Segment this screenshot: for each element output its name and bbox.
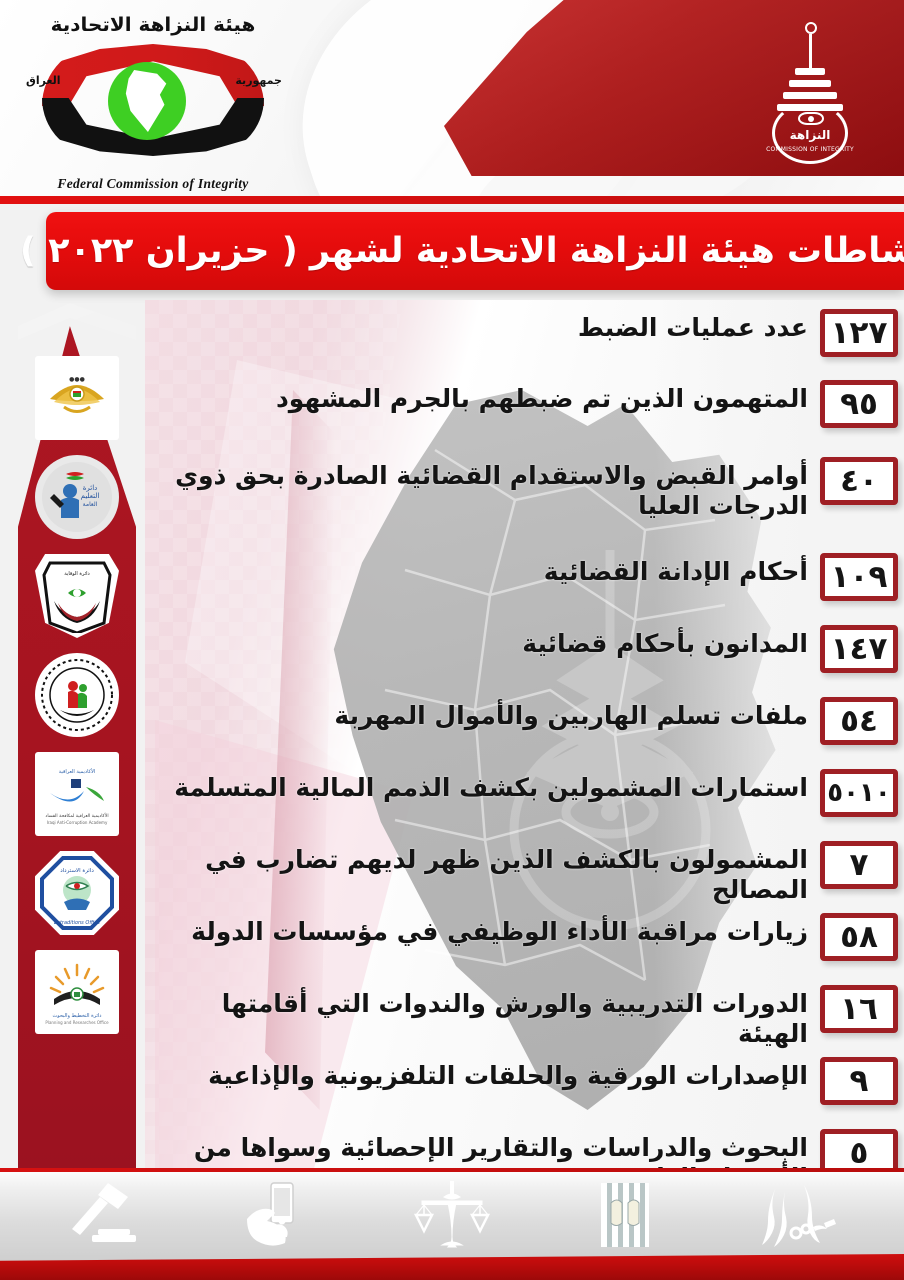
svg-text:Planning and Researches Office: Planning and Researches Office [45, 1020, 109, 1025]
stat-value-box: ٥٨ [820, 913, 898, 961]
svg-text:Extraditions Office: Extraditions Office [54, 920, 100, 926]
stat-value: ٥ [850, 1138, 869, 1169]
tower-subtitle-label: COMMISSION OF INTEGRITY [764, 146, 856, 153]
footer-icon-strip [0, 1176, 904, 1254]
media-and-public-relations-icon: دائرة التعليم العامة [35, 455, 119, 539]
table-row: ١٦ الدورات التدريبية والورش والندوات الت… [150, 985, 898, 1048]
svg-text:الأكاديمية العراقية لمكافحة ال: الأكاديمية العراقية لمكافحة الفساد [45, 812, 108, 819]
footer-red-band [0, 1254, 904, 1280]
table-row: ١٢٧ عدد عمليات الضبط [150, 309, 898, 357]
council-of-ministers-icon: ●●● [35, 356, 119, 440]
federal-commission-of-integrity-logo: هيئة النزاهة الاتحادية جمهورية العراق Fe… [28, 12, 278, 192]
prevention-office-icon: دائرة الوقاية [35, 554, 119, 638]
logo-word-aliraq: العراق [26, 74, 61, 87]
stat-value: ٧ [850, 850, 869, 881]
stat-value: ٥٠١٠ [827, 780, 890, 806]
table-row: ٥٠١٠ استمارات المشمولين بكشف الذمم المال… [150, 769, 898, 817]
tower-script-label: النزاهة [764, 128, 856, 142]
stat-value: ١٤٧ [831, 634, 888, 665]
stat-value: ٤٠ [840, 466, 878, 497]
logo-arabic-name: هيئة النزاهة الاتحادية [22, 14, 285, 36]
stat-value: ٥٨ [840, 922, 878, 953]
svg-text:التعليم: التعليم [81, 492, 100, 500]
table-row: ٤٠ أوامر القبض والاستقدام القضائية الصاد… [150, 457, 898, 520]
handcuffs-icon [752, 1179, 844, 1251]
stat-value-box: ٥٤ [820, 697, 898, 745]
integrity-tower-emblem: النزاهة COMMISSION OF INTEGRITY [764, 22, 856, 172]
svg-text:Iraqi Anti-Corruption Academy: Iraqi Anti-Corruption Academy [47, 820, 108, 825]
stat-value: ٩٥ [840, 389, 878, 420]
header-bottom-red-strip [0, 196, 904, 204]
investigations-department-logo [35, 653, 119, 737]
stat-value-box: ٧ [820, 841, 898, 889]
extraditions-office-logo: دائرة الاسترداد Extraditions Office [35, 851, 119, 935]
council-of-ministers-logo: ●●● [35, 356, 119, 440]
svg-text:دائرة: دائرة [83, 484, 98, 492]
planning-and-researches-office-icon: دائرة التخطيط والبحوث Planning and Resea… [35, 950, 119, 1034]
stat-label: أحكام الإدانة القضائية [150, 553, 808, 587]
stat-value-box: ١٢٧ [820, 309, 898, 357]
title-banner-wrapper: نشاطات هيئة النزاهة الاتحادية لشهر ( حزي… [46, 212, 904, 298]
tower-eye-pupil-icon [808, 116, 814, 122]
tower-top-dot-icon [805, 22, 817, 34]
table-row: ١٤٧ المدانون بأحكام قضائية [150, 625, 898, 673]
stat-value: ١٠٩ [831, 562, 888, 593]
tower-rod-icon [809, 34, 812, 68]
stat-label: المتهمون الذين تم ضبطهم بالجرم المشهود [150, 380, 808, 414]
page-footer [0, 1168, 904, 1280]
stat-value: ١٢٧ [831, 318, 888, 349]
iraqi-anti-corruption-academy-icon: الأكاديمية العراقية الأكاديمية العراقية … [35, 752, 119, 836]
stat-value-box: ٥٠١٠ [820, 769, 898, 817]
hand-holding-phone-icon [233, 1179, 325, 1251]
stat-label: الدورات التدريبية والورش والندوات التي أ… [150, 985, 808, 1048]
stat-label: الإصدارات الورقية والحلقات التلفزيونية و… [150, 1057, 808, 1091]
prevention-office-logo: دائرة الوقاية [35, 554, 119, 638]
table-row: ٥٨ زيارات مراقبة الأداء الوظيفي في مؤسسا… [150, 913, 898, 961]
svg-text:دائرة الوقاية: دائرة الوقاية [64, 571, 89, 577]
table-row: ٩ الإصدارات الورقية والحلقات التلفزيونية… [150, 1057, 898, 1105]
stat-label: ملفات تسلم الهاربين والأموال المهربة [150, 697, 808, 731]
gavel-icon [60, 1179, 152, 1251]
stat-label: زيارات مراقبة الأداء الوظيفي في مؤسسات ا… [150, 913, 808, 947]
stat-value: ٥٤ [840, 706, 878, 737]
page-header: هيئة النزاهة الاتحادية جمهورية العراق Fe… [0, 0, 904, 200]
stat-value-box: ٩ [820, 1057, 898, 1105]
svg-text:●●●: ●●● [69, 376, 85, 383]
svg-text:دائرة التخطيط والبحوث: دائرة التخطيط والبحوث [53, 1013, 102, 1019]
scales-of-justice-icon [406, 1179, 498, 1251]
logo-eye-shape [42, 44, 264, 156]
infographic-page: هيئة النزاهة الاتحادية جمهورية العراق Fe… [0, 0, 904, 1280]
svg-text:الأكاديمية العراقية: الأكاديمية العراقية [59, 768, 95, 775]
svg-text:العامة: العامة [83, 501, 98, 508]
stat-value: ٩ [850, 1066, 869, 1097]
stat-value-box: ١٠٩ [820, 553, 898, 601]
stat-label: عدد عمليات الضبط [150, 309, 808, 343]
logo-word-jumhuriya: جمهورية [235, 74, 282, 87]
stat-value-box: ٤٠ [820, 457, 898, 505]
investigations-department-icon [35, 653, 119, 737]
table-row: ١٠٩ أحكام الإدانة القضائية [150, 553, 898, 601]
stat-value: ١٦ [840, 994, 878, 1025]
logo-english-name: Federal Commission of Integrity [28, 176, 278, 192]
stat-label: المشمولون بالكشف الذين ظهر لديهم تضارب ف… [150, 841, 808, 904]
planning-and-researches-office-logo: دائرة التخطيط والبحوث Planning and Resea… [35, 950, 119, 1034]
iraqi-anti-corruption-academy-logo: الأكاديمية العراقية الأكاديمية العراقية … [35, 752, 119, 836]
extraditions-office-icon: دائرة الاسترداد Extraditions Office [35, 851, 119, 935]
table-row: ٩٥ المتهمون الذين تم ضبطهم بالجرم المشهو… [150, 380, 898, 428]
table-row: ٥٤ ملفات تسلم الهاربين والأموال المهربة [150, 697, 898, 745]
tower-tier-2-icon [789, 80, 831, 87]
statistics-list: ١٢٧ عدد عمليات الضبط ٩٥ المتهمون الذين ت… [150, 305, 898, 1173]
table-row: ٧ المشمولون بالكشف الذين ظهر لديهم تضارب… [150, 841, 898, 904]
stat-label: أوامر القبض والاستقدام القضائية الصادرة … [150, 457, 808, 520]
sidebar-logo-stack: ●●● دائرة التعليم العامة [18, 334, 136, 1172]
page-title: نشاطات هيئة النزاهة الاتحادية لشهر ( حزي… [20, 231, 904, 271]
title-banner: نشاطات هيئة النزاهة الاتحادية لشهر ( حزي… [46, 212, 904, 290]
stat-value-box: ٩٥ [820, 380, 898, 428]
footer-red-divider [0, 1168, 904, 1172]
stat-value-box: ١٦ [820, 985, 898, 1033]
svg-text:دائرة الاسترداد: دائرة الاسترداد [60, 868, 94, 874]
tower-tier-3-icon [783, 92, 837, 99]
media-and-public-relations-office-logo: دائرة التعليم العامة [35, 455, 119, 539]
prison-bars-icon [579, 1179, 671, 1251]
stat-label: استمارات المشمولين بكشف الذمم المالية ال… [150, 769, 808, 803]
tower-tier-1-icon [795, 68, 825, 75]
stat-value-box: ١٤٧ [820, 625, 898, 673]
stat-label: المدانون بأحكام قضائية [150, 625, 808, 659]
